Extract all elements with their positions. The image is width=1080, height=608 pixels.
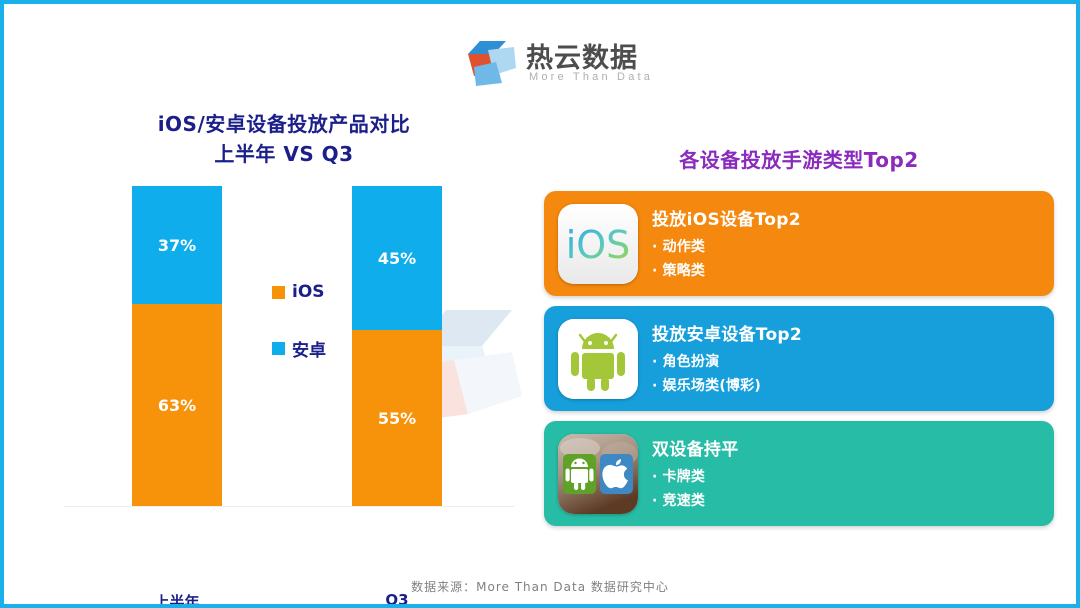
- legend-item-ios[interactable]: iOS: [272, 281, 382, 303]
- chart-panel: iOS/安卓设备投放产品对比 上半年 VS Q3 37% 63% 45% 55%…: [44, 109, 524, 549]
- card-android[interactable]: 投放安卓设备Top2 角色扮演 娱乐场类(博彩): [544, 306, 1054, 411]
- chart-segment-ios-0: 63%: [132, 304, 222, 506]
- legend-swatch-icon-android: [272, 342, 285, 355]
- category-panel: 各设备投放手游类型Top2: [544, 144, 1054, 536]
- card-both[interactable]: 双设备持平 卡牌类 竞速类: [544, 421, 1054, 526]
- card-both-heading: 双设备持平: [652, 435, 1040, 460]
- chart-legend: iOS 安卓: [272, 281, 382, 393]
- brand-logo: 热云数据 More Than Data: [466, 36, 646, 92]
- legend-label-android: 安卓: [292, 336, 326, 361]
- chart-title-line1: iOS/安卓设备投放产品对比: [158, 112, 411, 136]
- android-robot-icon: [558, 319, 638, 399]
- slide: 热云数据 More Than Data 热云数据 More Than Data …: [0, 0, 1080, 608]
- chart-title-line2: 上半年 VS Q3: [44, 139, 524, 169]
- card-both-item-1: 竞速类: [652, 489, 1040, 513]
- card-android-body: 投放安卓设备Top2 角色扮演 娱乐场类(博彩): [652, 320, 1040, 398]
- card-ios-heading: 投放iOS设备Top2: [652, 205, 1040, 230]
- source-note: 数据来源：More Than Data 数据研究中心: [4, 578, 1076, 595]
- brand-tagline: More Than Data: [529, 71, 653, 83]
- card-ios-body: 投放iOS设备Top2 动作类 策略类: [652, 205, 1040, 283]
- ios-logo-icon: iOS: [558, 204, 638, 284]
- category-panel-title: 各设备投放手游类型Top2: [544, 144, 1054, 173]
- chart-segment-android-0: 37%: [132, 186, 222, 304]
- card-android-item-0: 角色扮演: [652, 350, 1040, 374]
- card-android-item-1: 娱乐场类(博彩): [652, 374, 1040, 398]
- legend-label-ios: iOS: [292, 282, 325, 302]
- svg-text:iOS: iOS: [566, 223, 631, 267]
- card-both-item-0: 卡牌类: [652, 465, 1040, 489]
- legend-item-android[interactable]: 安卓: [272, 337, 382, 359]
- chart-axis-line: [64, 506, 514, 507]
- card-ios-item-1: 策略类: [652, 259, 1040, 283]
- card-ios-item-0: 动作类: [652, 235, 1040, 259]
- android-and-apple-icon: [558, 434, 638, 514]
- ribbon-logo-icon: [466, 38, 518, 88]
- legend-swatch-icon-ios: [272, 286, 285, 299]
- card-android-heading: 投放安卓设备Top2: [652, 320, 1040, 345]
- card-ios[interactable]: iOS 投放iOS设备Top2 动作类 策略类: [544, 191, 1054, 296]
- card-both-body: 双设备持平 卡牌类 竞速类: [652, 435, 1040, 513]
- chart-title: iOS/安卓设备投放产品对比 上半年 VS Q3: [44, 109, 524, 169]
- brand-name: 热云数据: [526, 36, 638, 75]
- chart-bar-group-0: 37% 63%: [132, 186, 222, 506]
